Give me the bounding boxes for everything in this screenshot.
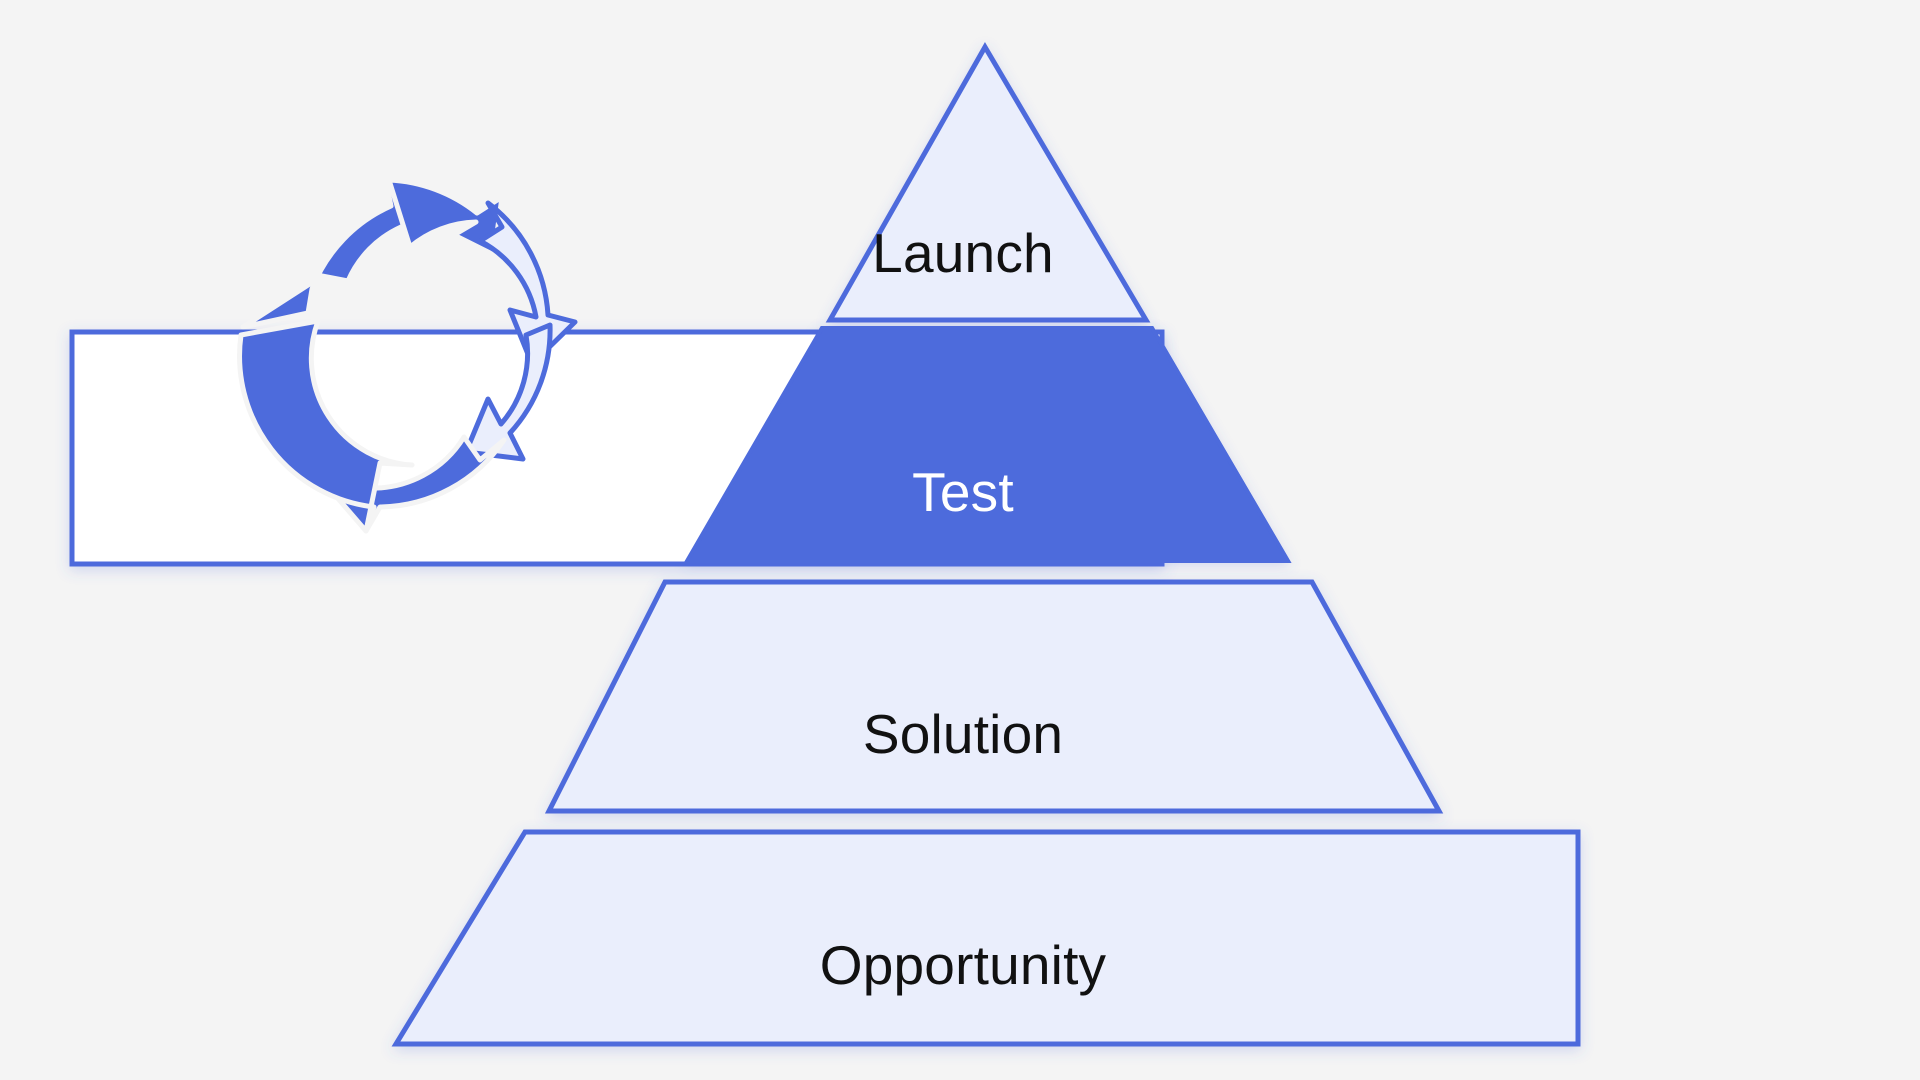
pyramid-level-solution-shape[interactable] — [549, 582, 1439, 811]
pyramid-diagram-svg — [0, 0, 1920, 1080]
pyramid-level-launch[interactable] — [830, 47, 1146, 320]
pyramid-level-launch-shape[interactable] — [830, 47, 1146, 320]
pyramid-level-opportunity-shape[interactable] — [396, 832, 1578, 1044]
diagram-canvas: Launch Test Solution Opportunity — [0, 0, 1920, 1080]
pyramid-level-opportunity[interactable] — [396, 832, 1578, 1044]
pyramid-level-solution[interactable] — [549, 582, 1439, 811]
